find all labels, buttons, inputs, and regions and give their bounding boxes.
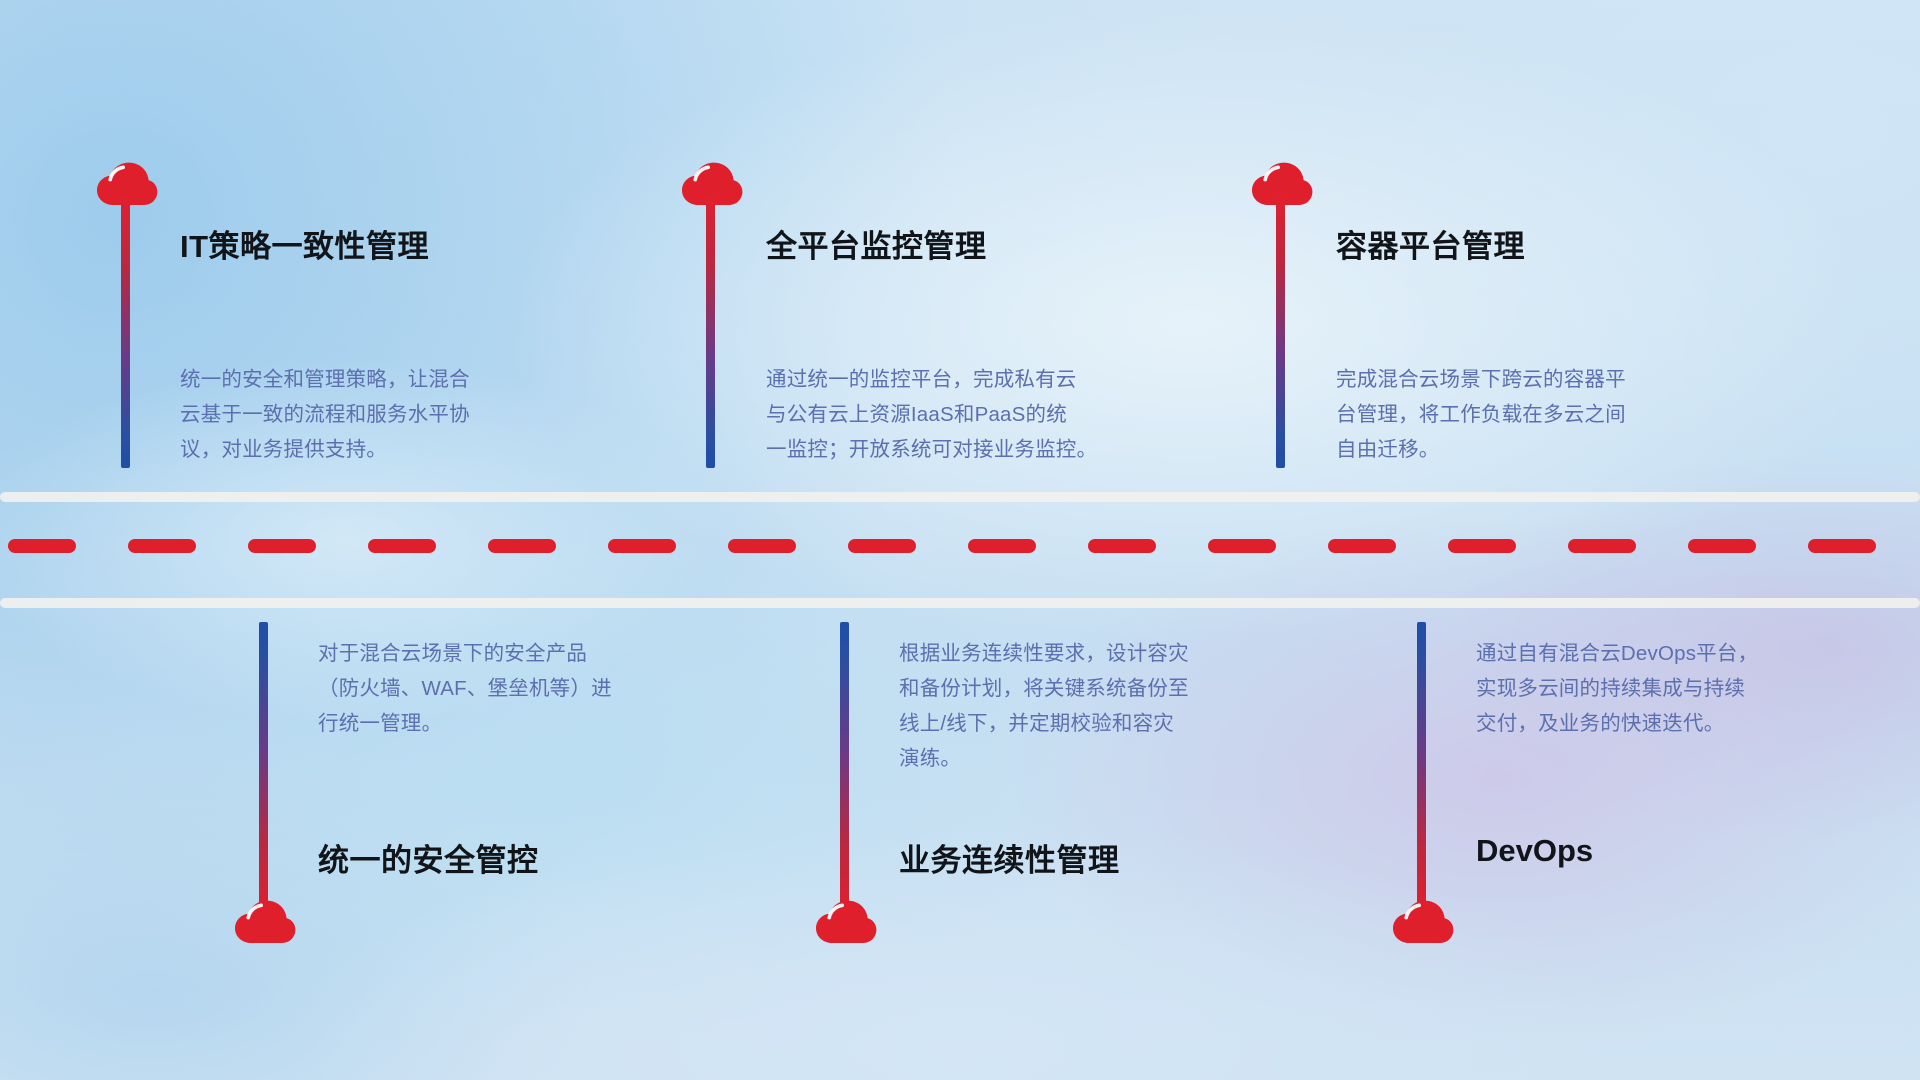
marker-description: 对于混合云场景下的安全产品 （防火墙、WAF、堡垒机等）进 行统一管理。 [318,636,748,741]
road-dash-segment [848,539,916,553]
road-dash-segment [1448,539,1516,553]
road-dash-segment [968,539,1036,553]
marker-stem [121,196,130,468]
marker-title: 容器平台管理 [1336,221,1525,266]
marker-stem [840,622,849,912]
marker-description: 通过统一的监控平台，完成私有云 与公有云上资源IaaS和PaaS的统 一监控；开… [766,362,1206,467]
road-dash-segment [1688,539,1756,553]
road-center-dashed-line [0,539,1920,553]
road-dash-segment [1208,539,1276,553]
marker-title: 业务连续性管理 [899,835,1120,880]
road-rail-top [0,492,1920,502]
marker-stem [259,622,268,912]
marker-title: IT策略一致性管理 [180,221,429,266]
marker-description: 通过自有混合云DevOps平台， 实现多云间的持续集成与持续 交付，及业务的快速… [1476,636,1896,741]
road-dash-segment [1328,539,1396,553]
marker-title: DevOps [1476,833,1593,869]
road-dash-segment [728,539,796,553]
marker-stem [1417,622,1426,912]
infographic-canvas: IT策略一致性管理 统一的安全和管理策略，让混合 云基于一致的流程和服务水平协 … [0,0,1920,1080]
road-dash-segment [368,539,436,553]
marker-stem [1276,196,1285,468]
road-dash-segment [248,539,316,553]
road-dash-segment [1088,539,1156,553]
cloud-icon [1392,900,1454,944]
marker-stem [706,196,715,468]
marker-description: 完成混合云场景下跨云的容器平 台管理，将工作负载在多云之间 自由迁移。 [1336,362,1756,467]
road-dash-segment [128,539,196,553]
marker-description: 根据业务连续性要求，设计容灾 和备份计划，将关键系统备份至 线上/线下，并定期校… [899,636,1339,776]
road-dash-segment [1808,539,1876,553]
road-dash-segment [1568,539,1636,553]
road-rail-bottom [0,598,1920,608]
marker-title: 全平台监控管理 [766,221,987,266]
marker-title: 统一的安全管控 [318,835,539,880]
cloud-icon [815,900,877,944]
road-dash-segment [608,539,676,553]
marker-description: 统一的安全和管理策略，让混合 云基于一致的流程和服务水平协 议，对业务提供支持。 [180,362,610,467]
road-dash-segment [488,539,556,553]
road-dash-segment [8,539,76,553]
cloud-icon [234,900,296,944]
